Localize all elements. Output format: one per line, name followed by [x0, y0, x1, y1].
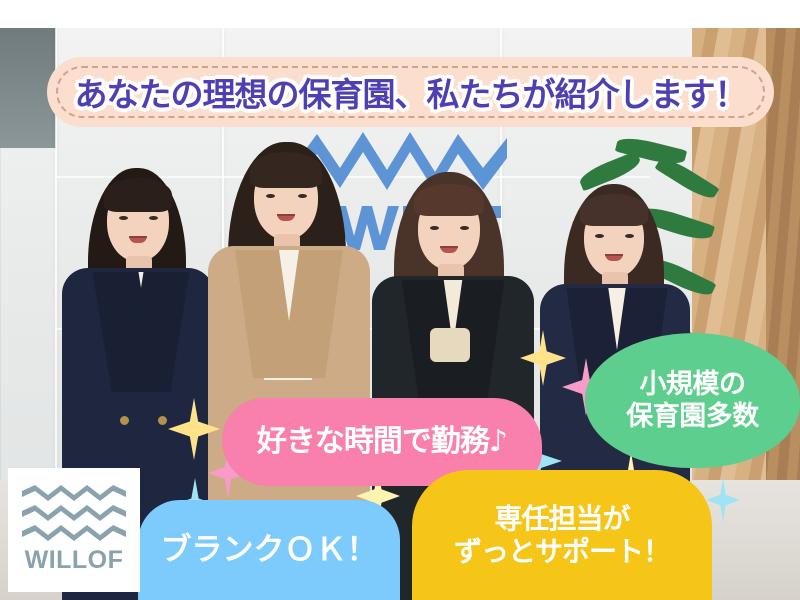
willof-wordmark: WILLOF — [25, 546, 124, 575]
bubble-yellow-line-1: 専任担当が — [454, 502, 670, 535]
headline-text: あなたの理想の保育園、私たちが紹介します！ — [47, 57, 774, 127]
bubble-blue-line-1: ブランクＯＫ！ — [161, 532, 378, 569]
bubble-yellow-line-2: ずっとサポート！ — [454, 535, 670, 568]
bubble-dedicated-support[interactable]: 専任担当が ずっとサポート！ — [412, 470, 712, 600]
advertisement-banner: 小規模の 保育園多数 好きな時間で勤務♪ ブランクＯＫ！ 専任担当が ずっとサポ… — [0, 0, 800, 600]
headline-banner: あなたの理想の保育園、私たちが紹介します！ — [47, 57, 774, 127]
willof-logo-card[interactable]: WILLOF — [8, 468, 140, 592]
bubble-pink-line-1: 好きな時間で勤務♪ — [257, 424, 507, 459]
zigzag-chevron-mark-icon — [22, 485, 126, 543]
bubble-green-line-1: 小規模の — [626, 369, 759, 401]
bubble-green-line-2: 保育園多数 — [626, 401, 759, 433]
top-white-strip — [0, 0, 800, 28]
bubble-blank-ok[interactable]: ブランクＯＫ！ — [138, 500, 400, 600]
bubble-small-nursery[interactable]: 小規模の 保育園多数 — [585, 333, 800, 468]
